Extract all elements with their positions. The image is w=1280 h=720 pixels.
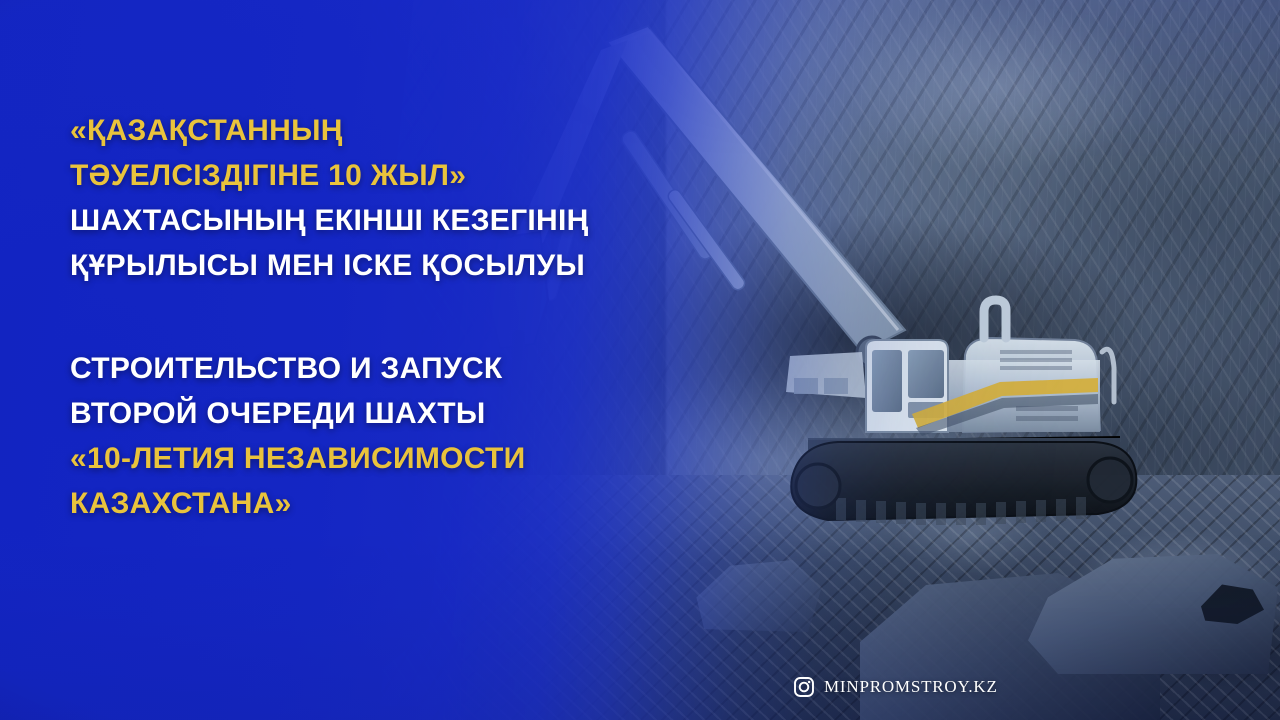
instagram-icon bbox=[793, 676, 815, 698]
headline-russian: СТРОИТЕЛЬСТВО И ЗАПУСК ВТОРОЙ ОЧЕРЕДИ ША… bbox=[70, 346, 710, 526]
headline-ru-line-4: КАЗАХСТАНА» bbox=[70, 481, 710, 526]
headline-kk-line-3: ШАХТАСЫНЫҢ ЕКІНШІ КЕЗЕГІНІҢ bbox=[70, 198, 710, 243]
headline-spacer bbox=[70, 288, 710, 346]
promo-banner: «ҚАЗАҚСТАННЫҢ ТӘУЕЛСІЗДІГІНЕ 10 ЖЫЛ» ШАХ… bbox=[0, 0, 1280, 720]
headline-ru-line-2: ВТОРОЙ ОЧЕРЕДИ ШАХТЫ bbox=[70, 391, 710, 436]
headline-kk-line-1: «ҚАЗАҚСТАННЫҢ bbox=[70, 108, 710, 153]
headline-kazakh: «ҚАЗАҚСТАННЫҢ ТӘУЕЛСІЗДІГІНЕ 10 ЖЫЛ» ШАХ… bbox=[70, 108, 710, 288]
headline-kk-line-2: ТӘУЕЛСІЗДІГІНЕ 10 ЖЫЛ» bbox=[70, 153, 710, 198]
headline-ru-line-3: «10-ЛЕТИЯ НЕЗАВИСИМОСТИ bbox=[70, 436, 710, 481]
headline-kk-line-4: ҚҰРЫЛЫСЫ МЕН ІСКЕ ҚОСЫЛУЫ bbox=[70, 243, 710, 288]
watermark-handle: MINPROMSTROY.KZ bbox=[824, 677, 998, 697]
watermark: MINPROMSTROY.KZ bbox=[793, 676, 998, 698]
headline-copy-block: «ҚАЗАҚСТАННЫҢ ТӘУЕЛСІЗДІГІНЕ 10 ЖЫЛ» ШАХ… bbox=[70, 108, 710, 526]
headline-ru-line-1: СТРОИТЕЛЬСТВО И ЗАПУСК bbox=[70, 346, 710, 391]
